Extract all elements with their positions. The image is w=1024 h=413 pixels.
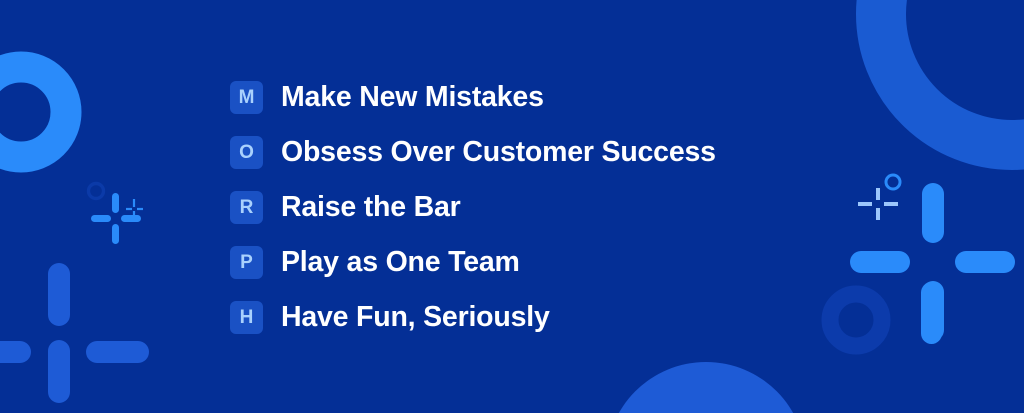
value-initial-badge: M [230,81,263,114]
list-item: H Have Fun, Seriously [230,290,716,345]
value-label: Raise the Bar [281,191,461,224]
value-label: Play as One Team [281,246,520,279]
list-item: O Obsess Over Customer Success [230,125,716,180]
value-label: Make New Mistakes [281,81,544,114]
value-label: Obsess Over Customer Success [281,136,716,169]
value-initial-badge: H [230,301,263,334]
list-item: P Play as One Team [230,235,716,290]
values-banner: M Make New Mistakes O Obsess Over Custom… [0,0,1024,413]
value-label: Have Fun, Seriously [281,301,550,334]
list-item: M Make New Mistakes [230,70,716,125]
values-list: M Make New Mistakes O Obsess Over Custom… [230,70,716,345]
list-item: R Raise the Bar [230,180,716,235]
value-initial-badge: R [230,191,263,224]
value-initial-badge: P [230,246,263,279]
rounded-bar-icon-bottom-right [921,282,942,344]
value-initial-badge: O [230,136,263,169]
